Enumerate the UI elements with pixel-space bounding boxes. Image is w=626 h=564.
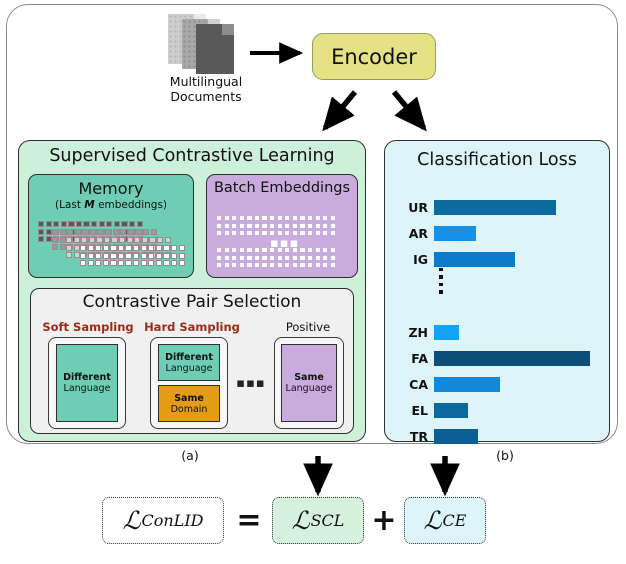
embedding-cell [330, 262, 336, 268]
embedding-cell [80, 245, 86, 251]
embedding-cell [315, 223, 321, 229]
stacked-documents-icon [168, 12, 242, 72]
embedding-cell [179, 260, 185, 266]
embedding-cell [315, 215, 321, 221]
embedding-cell [133, 245, 139, 251]
embedding-cell [284, 247, 290, 253]
embedding-cell [239, 223, 245, 229]
embedding-row [216, 215, 336, 221]
embedding-cell [254, 262, 260, 268]
embedding-cell [307, 255, 313, 261]
embedding-cell [82, 229, 88, 235]
embedding-cell [95, 260, 101, 266]
embedding-cell [307, 223, 313, 229]
embedding-cell [88, 253, 94, 259]
embedding-cell [261, 255, 267, 261]
contrastive-pair-selection-title: Contrastive Pair Selection [30, 292, 354, 312]
embedding-cell [330, 255, 336, 261]
embedding-cell [96, 237, 102, 243]
embedding-cell [156, 245, 162, 251]
embedding-cell [125, 260, 131, 266]
embedding-cell [224, 262, 230, 268]
bar-ur [434, 200, 556, 215]
embedding-cell [163, 260, 169, 266]
embedding-cell [125, 253, 131, 259]
embedding-row [38, 221, 143, 227]
embedding-cell [120, 229, 126, 235]
embedding-cell [110, 245, 116, 251]
embedding-cell [128, 229, 134, 235]
embedding-cell [118, 245, 124, 251]
embedding-cell [322, 262, 328, 268]
documents-label: Multilingual Documents [150, 74, 262, 104]
embedding-cell [104, 237, 110, 243]
loss-scl-symbol: ℒ [292, 506, 310, 535]
embedding-cell [292, 247, 298, 253]
embedding-cell [141, 253, 147, 259]
embedding-cell [307, 247, 313, 253]
embedding-cell [315, 262, 321, 268]
bar-fa [434, 351, 590, 366]
embedding-cell [261, 223, 267, 229]
embedding-cell [135, 229, 141, 235]
embedding-cell [38, 229, 44, 235]
embedding-cell [299, 230, 305, 236]
embedding-cell [133, 253, 139, 259]
embedding-row [80, 245, 185, 251]
document-page-front [196, 24, 234, 74]
embedding-cell [292, 262, 298, 268]
embedding-cell [261, 215, 267, 221]
embedding-cell [83, 221, 89, 227]
embedding-row [216, 223, 336, 229]
embedding-cell [88, 245, 94, 251]
embedding-cell [46, 221, 52, 227]
batch-embeddings-title: Batch Embeddings [206, 180, 358, 196]
embedding-cell [216, 215, 222, 221]
embedding-row [80, 260, 185, 266]
embedding-cell [157, 237, 163, 243]
embedding-cell [103, 260, 109, 266]
embedding-cell [110, 253, 116, 259]
bar-chart-vertical-ellipsis [434, 268, 448, 294]
embedding-cell [74, 252, 80, 258]
loss-total-box: ℒConLID [102, 497, 224, 544]
hard-chip-top-line2: Language [166, 363, 213, 374]
embedding-cell [315, 255, 321, 261]
bar-el [434, 403, 468, 418]
memory-subtitle-suffix: embeddings) [95, 199, 167, 211]
embedding-cell [179, 245, 185, 251]
embedding-cell [99, 221, 105, 227]
bar-tr [434, 429, 478, 444]
bar-label-zh: ZH [392, 325, 428, 340]
embedding-cell [103, 253, 109, 259]
soft-sampling-label: Soft Sampling [36, 320, 140, 334]
embedding-cell [148, 260, 154, 266]
bar-chart-row: ZH [384, 325, 610, 340]
embedding-cell [246, 247, 252, 253]
embedding-cell [60, 244, 66, 250]
embedding-cell [330, 247, 336, 253]
embedding-cell [269, 255, 275, 261]
embedding-cell [90, 229, 96, 235]
bar-chart-row: IG [384, 252, 610, 267]
embedding-cell [307, 230, 313, 236]
encoder-box: Encoder [312, 33, 436, 80]
memory-subtitle-prefix: (Last [55, 199, 84, 211]
loss-ce-symbol: ℒ [424, 506, 442, 535]
embedding-cell [111, 237, 117, 243]
memory-embedding-stack [38, 221, 188, 275]
embedding-cell [151, 229, 157, 235]
embedding-cell [76, 221, 82, 227]
embedding-row [216, 262, 336, 268]
embedding-cell [239, 262, 245, 268]
bar-chart-row: CA [384, 377, 610, 392]
encoder-label: Encoder [331, 45, 417, 69]
embedding-cell [231, 223, 237, 229]
embedding-cell [246, 223, 252, 229]
embedding-cell [322, 215, 328, 221]
embedding-cell [95, 245, 101, 251]
embedding-cell [95, 253, 101, 259]
embedding-cell [277, 255, 283, 261]
embedding-cell [239, 230, 245, 236]
embedding-cell [66, 245, 72, 251]
bar-chart-row: AR [384, 226, 610, 241]
embedding-cell [231, 262, 237, 268]
embedding-cell [269, 247, 275, 253]
embedding-cell [179, 253, 185, 259]
embedding-cell [171, 253, 177, 259]
embedding-cell [246, 255, 252, 261]
embedding-cell [322, 255, 328, 261]
soft-chip-line1: Different [63, 372, 111, 383]
bar-label-tr: TR [392, 429, 428, 444]
hard-sampling-chip-different-language: Different Language [158, 344, 220, 381]
embedding-cell [66, 252, 72, 258]
embedding-cell [261, 230, 267, 236]
embedding-cell [216, 230, 222, 236]
embedding-cell [299, 223, 305, 229]
bar-label-ca: CA [392, 377, 428, 392]
embedding-cell [322, 223, 328, 229]
embedding-cell [231, 215, 237, 221]
embedding-cell [239, 255, 245, 261]
embedding-cell [277, 215, 283, 221]
embedding-cell [254, 223, 260, 229]
embedding-cell [322, 247, 328, 253]
embedding-cell [119, 237, 125, 243]
embedding-cell [53, 221, 59, 227]
embedding-cell [299, 247, 305, 253]
bar-chart-row: EL [384, 403, 610, 418]
embedding-cell [216, 247, 222, 253]
embedding-cell [224, 247, 230, 253]
hard-sampling-label: Hard Sampling [140, 320, 244, 334]
embedding-cell [239, 247, 245, 253]
positive-label: Positive [268, 320, 348, 334]
soft-sampling-chip: Different Language [56, 344, 118, 422]
embedding-cell [61, 221, 67, 227]
embedding-cell [149, 237, 155, 243]
embedding-cell [143, 229, 149, 235]
embedding-cell [118, 253, 124, 259]
embedding-cell [315, 230, 321, 236]
embedding-cell [52, 244, 58, 250]
embedding-cell [246, 262, 252, 268]
embedding-cell [133, 260, 139, 266]
embedding-cell [134, 237, 140, 243]
embedding-cell [118, 260, 124, 266]
embedding-cell [216, 255, 222, 261]
bar-ig [434, 252, 515, 267]
embedding-cell [81, 237, 87, 243]
scl-panel-title: Supervised Contrastive Learning [18, 146, 366, 166]
loss-total-subscript: ConLID [142, 511, 204, 530]
embedding-cell [67, 229, 73, 235]
embedding-cell [269, 223, 275, 229]
embedding-cell [121, 221, 127, 227]
embedding-cell [75, 229, 81, 235]
embedding-cell [224, 223, 230, 229]
embedding-row [52, 229, 157, 235]
embedding-cell [292, 223, 298, 229]
embedding-cell [224, 230, 230, 236]
embedding-cell [224, 255, 230, 261]
hard-chip-top-line1: Different [165, 352, 213, 363]
embedding-cell [141, 245, 147, 251]
embedding-cell [127, 237, 133, 243]
embedding-cell [156, 260, 162, 266]
embedding-cell [46, 229, 52, 235]
loss-scl-box: ℒSCL [272, 497, 364, 544]
embedding-cell [231, 255, 237, 261]
caption-a: (a) [155, 448, 225, 463]
embedding-cell [246, 230, 252, 236]
embedding-cell [261, 247, 267, 253]
embedding-cell [97, 229, 103, 235]
embedding-cell [113, 229, 119, 235]
loss-ce-box: ℒCE [404, 497, 486, 544]
embedding-cell [322, 230, 328, 236]
embedding-cell [292, 215, 298, 221]
embedding-cell [148, 245, 154, 251]
embedding-cell [269, 262, 275, 268]
embedding-row [216, 255, 336, 261]
batch-embedding-grid-bottom [216, 247, 336, 268]
soft-chip-line2: Language [64, 383, 111, 394]
embedding-cell [307, 262, 313, 268]
batch-embedding-grid-top [216, 215, 336, 236]
classification-bar-chart: URARIGZHFACAELTR [384, 140, 610, 442]
embedding-cell [330, 223, 336, 229]
embedding-cell [171, 245, 177, 251]
embedding-cell [284, 255, 290, 261]
memory-title: Memory [28, 179, 194, 198]
hard-chip-bottom-line1: Same [174, 393, 204, 404]
bar-ar [434, 226, 476, 241]
embedding-cell [216, 262, 222, 268]
caption-b: (b) [470, 448, 540, 463]
embedding-cell [254, 247, 260, 253]
embedding-cell [148, 253, 154, 259]
memory-grid-layer [80, 245, 185, 266]
bar-label-ig: IG [392, 252, 428, 267]
embedding-cell [284, 223, 290, 229]
embedding-cell [299, 215, 305, 221]
embedding-cell [224, 215, 230, 221]
embedding-cell [103, 245, 109, 251]
embedding-cell [60, 237, 66, 243]
embedding-cell [216, 223, 222, 229]
bar-label-ur: UR [392, 200, 428, 215]
embedding-cell [74, 245, 80, 251]
memory-subtitle: (Last M embeddings) [28, 199, 194, 211]
embedding-cell [105, 229, 111, 235]
embedding-cell [163, 245, 169, 251]
embedding-cell [89, 237, 95, 243]
embedding-cell [142, 237, 148, 243]
embedding-cell [231, 230, 237, 236]
embedding-cell [171, 260, 177, 266]
embedding-cell [277, 223, 283, 229]
embedding-cell [277, 262, 283, 268]
memory-subtitle-italic: M [84, 199, 94, 211]
plus-sign: + [368, 497, 400, 544]
embedding-row [80, 253, 185, 259]
bar-ca [434, 377, 500, 392]
embedding-cell [299, 255, 305, 261]
embedding-cell [163, 253, 169, 259]
embedding-cell [106, 221, 112, 227]
bar-label-ar: AR [392, 226, 428, 241]
embedding-cell [330, 215, 336, 221]
embedding-cell [137, 221, 143, 227]
embedding-cell [284, 215, 290, 221]
positive-chip-same-language: Same Language [281, 344, 337, 422]
bar-label-el: EL [392, 403, 428, 418]
bar-label-fa: FA [392, 351, 428, 366]
embedding-cell [129, 221, 135, 227]
loss-ce-subscript: CE [443, 511, 467, 530]
embedding-cell [299, 262, 305, 268]
embedding-cell [91, 221, 97, 227]
embedding-cell [231, 247, 237, 253]
embedding-cell [110, 260, 116, 266]
embedding-cell [38, 236, 44, 242]
pair-selection-ellipsis: ▪▪▪ [232, 376, 270, 391]
embedding-cell [284, 262, 290, 268]
embedding-cell [114, 221, 120, 227]
embedding-cell [80, 253, 86, 259]
embedding-cell [165, 237, 171, 243]
embedding-cell [52, 237, 58, 243]
embedding-cell [66, 237, 72, 243]
equals-sign: = [232, 497, 266, 544]
embedding-cell [60, 229, 66, 235]
embedding-cell [239, 215, 245, 221]
embedding-cell [156, 253, 162, 259]
embedding-cell [141, 260, 147, 266]
embedding-cell [68, 221, 74, 227]
bar-chart-row: TR [384, 429, 610, 444]
hard-chip-bottom-line2: Domain [171, 404, 208, 415]
bar-zh [434, 325, 459, 340]
embedding-row [216, 247, 336, 253]
bar-chart-row: UR [384, 200, 610, 215]
loss-total-symbol: ℒ [123, 506, 141, 535]
embedding-cell [261, 262, 267, 268]
embedding-cell [80, 260, 86, 266]
embedding-cell [38, 221, 44, 227]
embedding-cell [88, 260, 94, 266]
documents-label-line1: Multilingual [150, 74, 262, 89]
positive-chip-line2: Language [286, 383, 333, 394]
loss-scl-subscript: SCL [311, 511, 345, 530]
embedding-cell [330, 230, 336, 236]
embedding-cell [292, 255, 298, 261]
documents-label-line2: Documents [150, 89, 262, 104]
embedding-cell [269, 215, 275, 221]
embedding-cell [74, 237, 80, 243]
embedding-cell [254, 255, 260, 261]
positive-chip-line1: Same [294, 372, 324, 383]
hard-sampling-chip-same-domain: Same Domain [158, 385, 220, 422]
embedding-cell [46, 236, 52, 242]
embedding-cell [254, 230, 260, 236]
embedding-cell [254, 215, 260, 221]
bar-chart-row: FA [384, 351, 610, 366]
embedding-cell [246, 215, 252, 221]
embedding-cell [277, 247, 283, 253]
embedding-cell [52, 229, 58, 235]
embedding-cell [315, 247, 321, 253]
embedding-cell [125, 245, 131, 251]
embedding-cell [307, 215, 313, 221]
embedding-row [66, 237, 171, 243]
